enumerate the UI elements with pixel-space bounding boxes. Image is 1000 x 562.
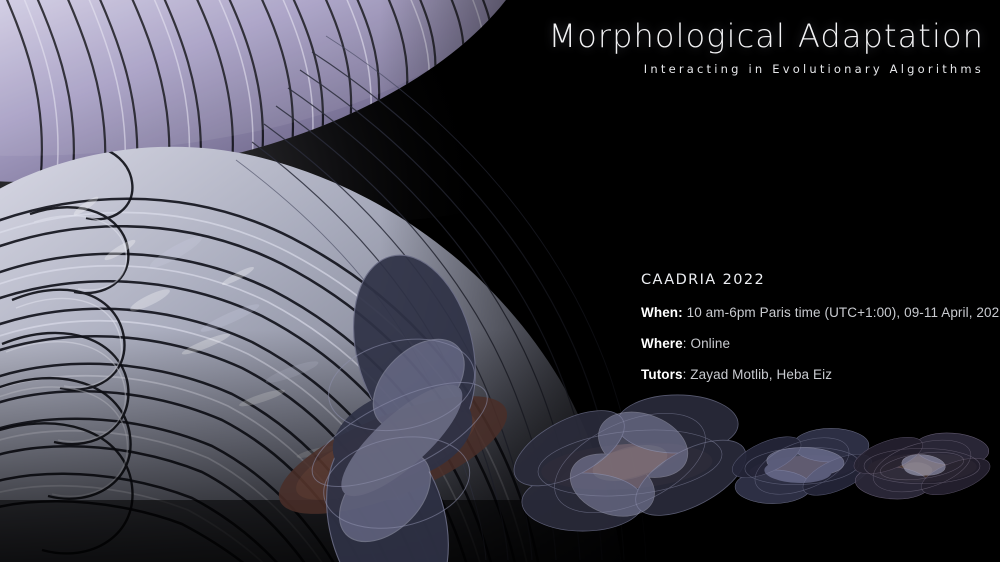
info-label-when: When: <box>641 305 683 320</box>
poster-canvas: MorphologicalAdaptation Interacting in E… <box>0 0 1000 562</box>
info-row-tutors: Tutors: Zayad Motlib, Heba Eiz <box>641 367 991 382</box>
blob-4 <box>846 420 998 512</box>
info-value-where: : Online <box>683 336 730 351</box>
title-word-1: Morphological <box>549 17 786 55</box>
info-label-tutors: Tutors <box>641 367 683 382</box>
page-title: MorphologicalAdaptation <box>424 18 984 55</box>
page-subtitle: Interacting in Evolutionary Algorithms <box>424 62 984 76</box>
title-block: MorphologicalAdaptation Interacting in E… <box>424 18 984 76</box>
info-row-when: When: 10 am-6pm Paris time (UTC+1:00), 0… <box>641 305 991 320</box>
info-label-where: Where <box>641 336 683 351</box>
artwork-svg <box>0 0 700 562</box>
artwork-ribbon-sculpture <box>0 0 700 562</box>
info-value-tutors: : Zayad Motlib, Heba Eiz <box>683 367 832 382</box>
event-name: CAADRIA 2022 <box>641 272 991 288</box>
event-info-block: CAADRIA 2022 When: 10 am-6pm Paris time … <box>641 272 991 398</box>
info-row-where: Where: Online <box>641 336 991 351</box>
info-value-when: 10 am-6pm Paris time (UTC+1:00), 09-11 A… <box>683 305 1000 320</box>
title-word-2: Adaptation <box>798 17 984 55</box>
blob-3 <box>722 413 881 519</box>
